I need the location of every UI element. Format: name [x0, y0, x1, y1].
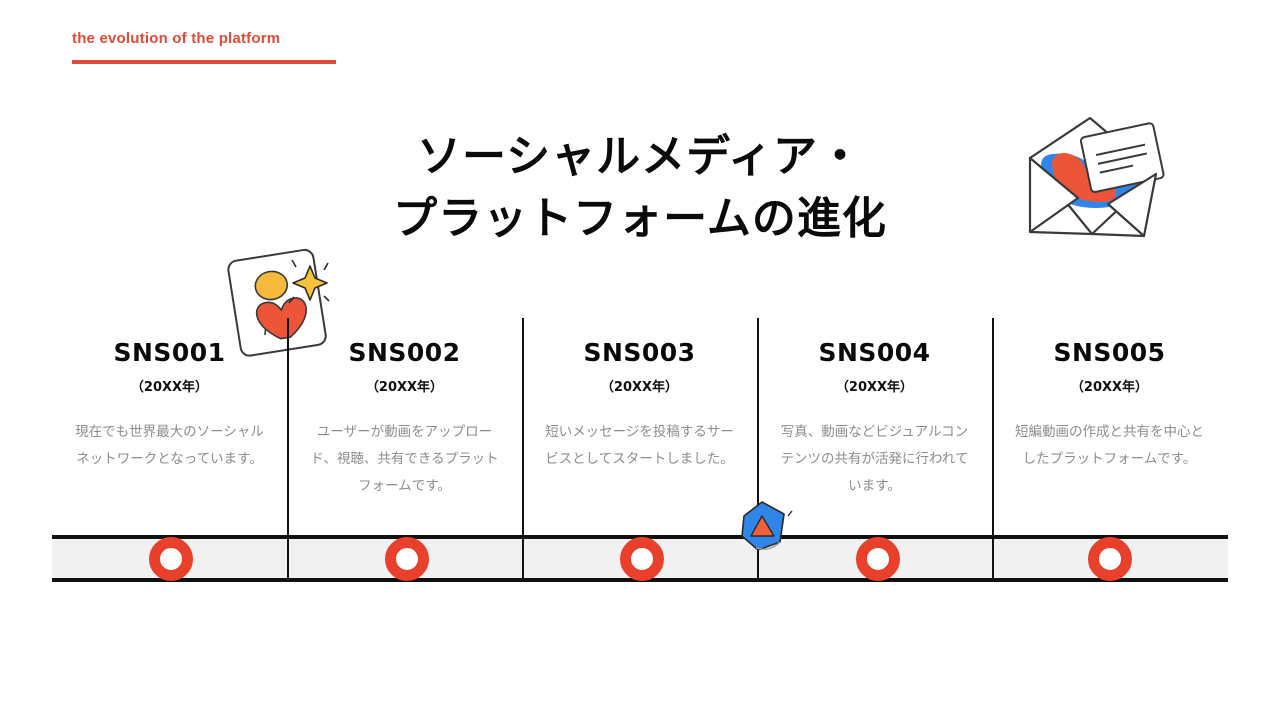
column-year: （20XX年） — [305, 376, 504, 395]
bar-divider-1 — [287, 535, 289, 582]
column-description: ユーザーが動画をアップロード、視聴、共有できるプラットフォームです。 — [305, 419, 504, 500]
column-title: SNS005 — [1010, 338, 1209, 367]
column-year: （20XX年） — [70, 376, 269, 395]
timeline-node-5[interactable] — [1088, 537, 1132, 581]
open-envelope-illustration — [1016, 112, 1166, 240]
timeline-node-1[interactable] — [149, 537, 193, 581]
column-description: 短いメッセージを投稿するサービスとしてスタートしました。 — [540, 419, 739, 473]
bar-divider-2 — [522, 535, 524, 582]
timeline-node-2[interactable] — [385, 537, 429, 581]
column-title: SNS003 — [540, 338, 739, 367]
timeline-column-5[interactable]: SNS005 （20XX年） 短編動画の作成と共有を中心としたプラットフォームで… — [992, 318, 1227, 536]
column-description: 現在でも世界最大のソーシャルネットワークとなっています。 — [70, 419, 269, 473]
timeline-columns: SNS001 （20XX年） 現在でも世界最大のソーシャルネットワークとなってい… — [52, 318, 1228, 536]
timeline-node-4[interactable] — [856, 537, 900, 581]
column-title: SNS004 — [775, 338, 974, 367]
timeline-bar — [52, 535, 1228, 582]
timeline-node-3[interactable] — [620, 537, 664, 581]
column-title: SNS001 — [70, 338, 269, 367]
eyebrow-header: the evolution of the platform — [72, 30, 336, 64]
timeline-column-2[interactable]: SNS002 （20XX年） ユーザーが動画をアップロード、視聴、共有できるプラ… — [287, 318, 522, 536]
play-shield-illustration — [736, 498, 796, 556]
column-title: SNS002 — [305, 338, 504, 367]
column-year: （20XX年） — [540, 376, 739, 395]
timeline-column-1[interactable]: SNS001 （20XX年） 現在でも世界最大のソーシャルネットワークとなってい… — [52, 318, 287, 536]
bar-divider-4 — [992, 535, 994, 582]
eyebrow-label: the evolution of the platform — [72, 30, 336, 47]
column-year: （20XX年） — [775, 376, 974, 395]
column-description: 短編動画の作成と共有を中心としたプラットフォームです。 — [1010, 419, 1209, 473]
column-description: 写真、動画などビジュアルコンテンツの共有が活発に行われています。 — [775, 419, 974, 500]
timeline-column-3[interactable]: SNS003 （20XX年） 短いメッセージを投稿するサービスとしてスタートしま… — [522, 318, 757, 536]
column-year: （20XX年） — [1010, 376, 1209, 395]
eyebrow-underline — [72, 60, 336, 64]
